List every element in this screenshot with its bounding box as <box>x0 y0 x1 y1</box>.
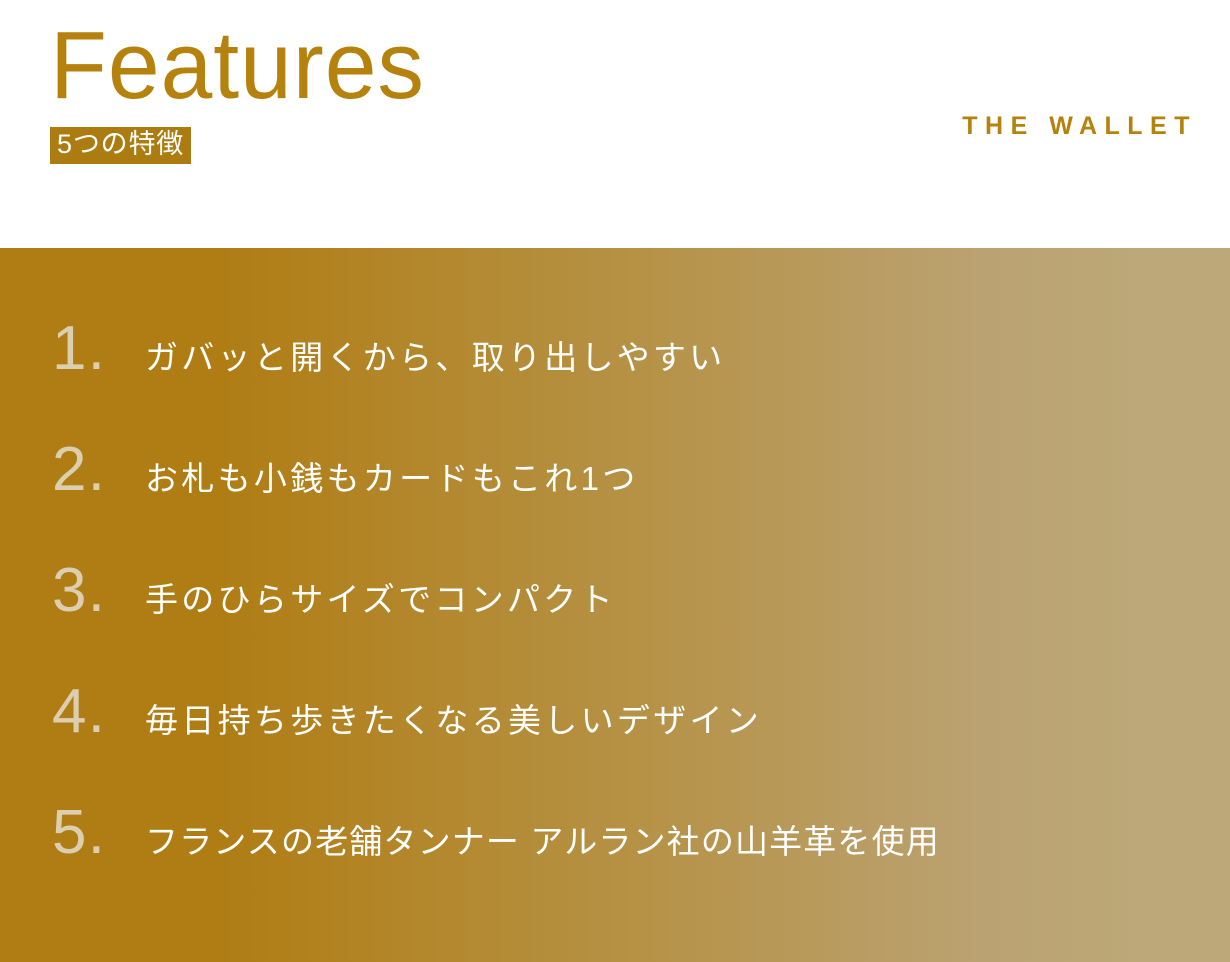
list-item: 4. 毎日持ち歩きたくなる美しいデザイン <box>52 681 1210 781</box>
list-item: 5. フランスの老舗タンナー アルラン社の山羊革を使用 <box>52 802 1210 902</box>
list-item-number: 1. <box>52 318 145 380</box>
list-item-label: 毎日持ち歩きたくなる美しいデザイン <box>145 704 1210 737</box>
list-item-label: ガバッと開くから、取り出しやすい <box>145 341 1210 374</box>
list-item-number: 4. <box>52 681 145 743</box>
list-item-label: フランスの老舗タンナー アルラン社の山羊革を使用 <box>145 825 1210 858</box>
feature-panel: 1. ガバッと開くから、取り出しやすい 2. お札も小銭もカードもこれ1つ 3.… <box>0 248 1230 962</box>
list-item-number: 3. <box>52 560 145 622</box>
page-title: Features <box>50 18 425 114</box>
subtitle-badge: 5つの特徴 <box>50 127 191 164</box>
brand-logo: THE WALLET <box>962 112 1197 141</box>
list-item-number: 5. <box>52 802 145 864</box>
list-item-label: お札も小銭もカードもこれ1つ <box>145 462 1210 495</box>
list-item: 2. お札も小銭もカードもこれ1つ <box>52 439 1210 539</box>
list-item-number: 2. <box>52 439 145 501</box>
title-block: Features 5つの特徴 <box>50 18 437 164</box>
features-page: Features 5つの特徴 THE WALLET 1. ガバッと開くから、取り… <box>0 0 1230 962</box>
list-item: 3. 手のひらサイズでコンパクト <box>52 560 1210 660</box>
page-header: Features 5つの特徴 THE WALLET <box>0 0 1230 248</box>
list-item: 1. ガバッと開くから、取り出しやすい <box>52 318 1210 418</box>
list-item-label: 手のひらサイズでコンパクト <box>145 583 1210 616</box>
